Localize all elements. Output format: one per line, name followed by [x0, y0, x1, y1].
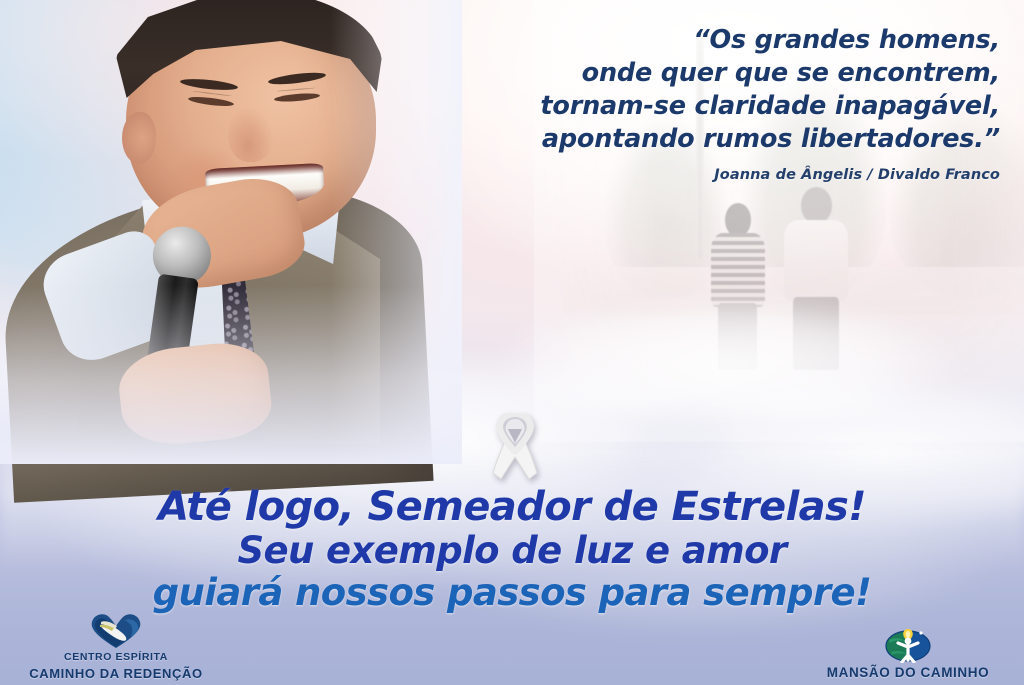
quote-block: “Os grandes homens, onde quer que se enc…	[380, 24, 1000, 183]
memorial-poster: “Os grandes homens, onde quer que se enc…	[0, 0, 1024, 685]
logo-centro-espirita-caminho-da-redencao: CENTRO ESPÍRITA CAMINHO DA REDENÇÃO	[6, 611, 226, 681]
heart-with-hands-icon	[88, 611, 144, 649]
logo-caption-large-right: MANSÃO DO CAMINHO	[827, 665, 989, 681]
white-mourning-ribbon-icon	[487, 413, 543, 483]
headline-block: Até logo, Semeador de Estrelas! Seu exem…	[0, 487, 1024, 611]
quote-attribution: Joanna de Ângelis / Divaldo Franco	[380, 167, 1000, 183]
quote-line-1: “Os grandes homens,	[380, 24, 1000, 57]
logo-caption-large-left: CAMINHO DA REDENÇÃO	[29, 666, 202, 681]
logo-caption-small-left: CENTRO ESPÍRITA	[64, 651, 168, 663]
quote-line-3: tornam-se claridade inapagável,	[380, 90, 1000, 123]
headline-line-2: Seu exemplo de luz e amor	[0, 532, 1024, 569]
logo-mansao-do-caminho: MANSÃO DO CAMINHO	[798, 619, 1018, 681]
globe-with-figure-and-flame-icon	[883, 619, 933, 663]
quote-line-4: apontando rumos libertadores.”	[380, 123, 1000, 156]
quote-line-2: onde quer que se encontrem,	[380, 57, 1000, 90]
headline-line-3: guiará nossos passos para sempre!	[0, 574, 1024, 611]
headline-line-1: Até logo, Semeador de Estrelas!	[0, 487, 1024, 527]
